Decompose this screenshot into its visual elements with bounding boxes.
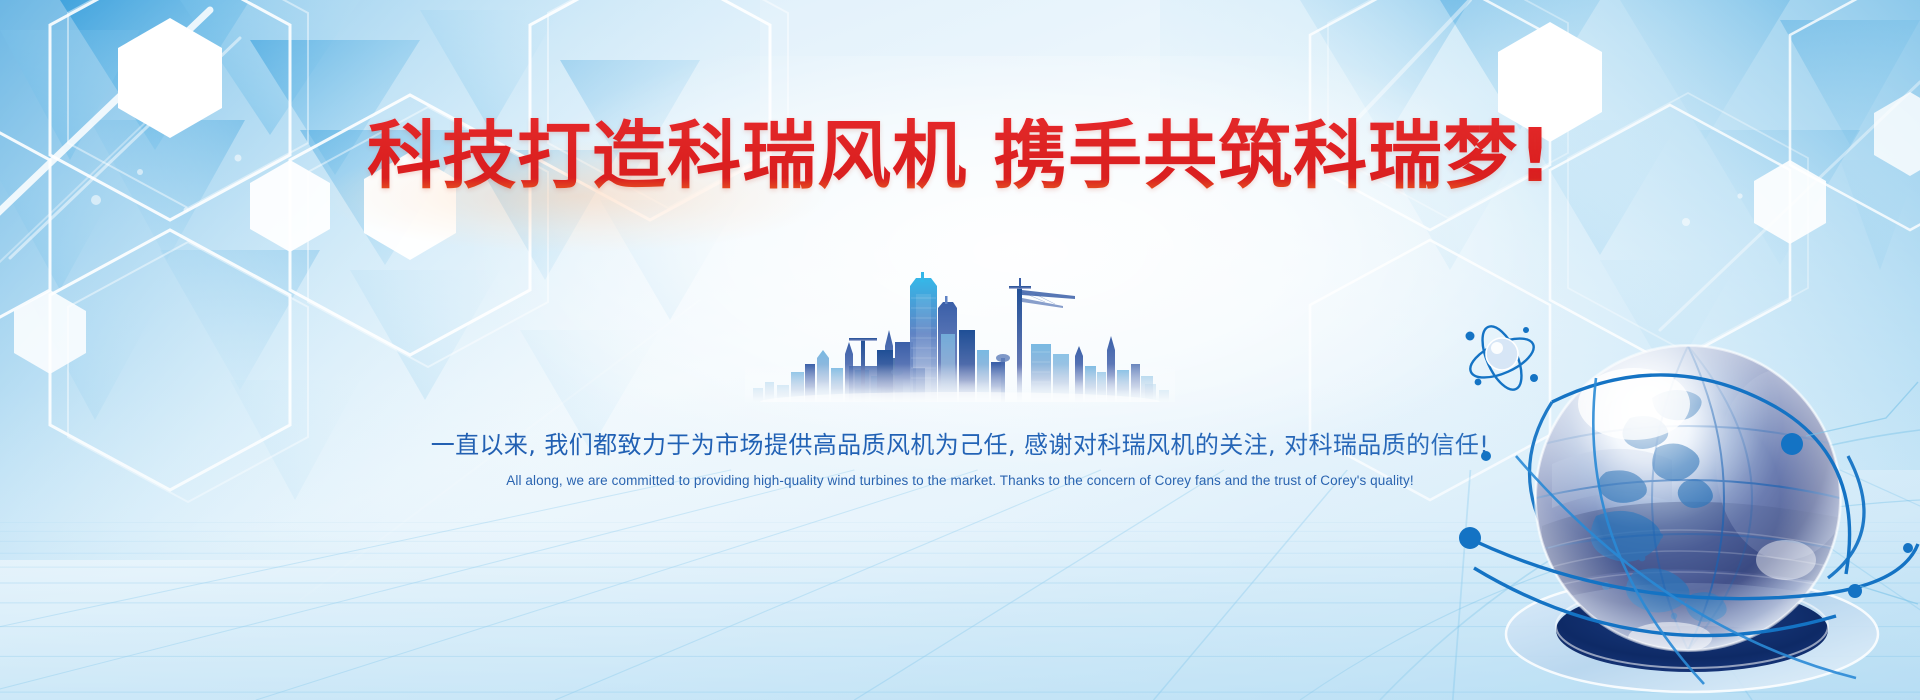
headline-part-1: 科技打造科瑞风机 xyxy=(367,113,967,199)
banner-headline: 科技打造科瑞风机携手共筑科瑞梦! xyxy=(367,118,1553,195)
headline-container: 科技打造科瑞风机携手共筑科瑞梦! xyxy=(0,118,1920,195)
promotional-banner: 科技打造科瑞风机携手共筑科瑞梦! xyxy=(0,0,1920,700)
headline-part-2: 携手共筑科瑞梦! xyxy=(993,113,1553,199)
globe-graphic xyxy=(1456,286,1920,700)
city-skyline-graphic xyxy=(745,272,1175,402)
